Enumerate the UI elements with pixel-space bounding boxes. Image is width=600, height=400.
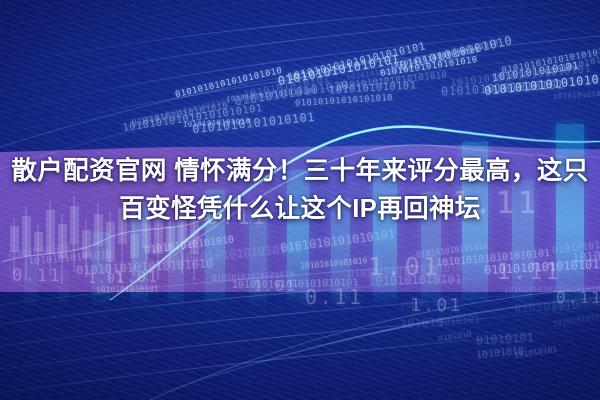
- promo-banner: 1010101010101010101010101010101010101010…: [0, 0, 600, 400]
- headline-line-2: 百变怪凭什么让这个IP再回神坛: [6, 190, 594, 228]
- headline-line-1: 散户配资官网 情怀满分！三十年来评分最高，这只: [6, 152, 594, 190]
- headline: 散户配资官网 情怀满分！三十年来评分最高，这只 百变怪凭什么让这个IP再回神坛: [0, 152, 600, 228]
